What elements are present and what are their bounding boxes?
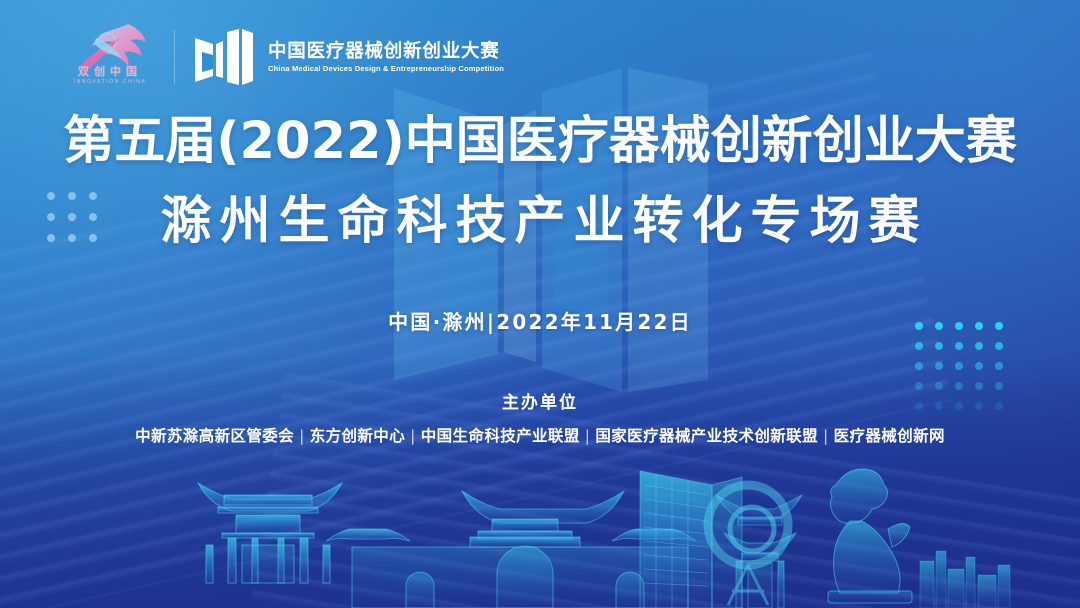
host-separator: | — [580, 427, 596, 445]
city-skyline-decoration — [0, 433, 1080, 608]
host-organization: 中国生命科技产业联盟 — [421, 427, 580, 445]
host-separator: | — [818, 427, 834, 445]
phoenix-bird-icon — [70, 22, 150, 70]
host-organization: 医疗器械创新网 — [834, 427, 945, 445]
logo-shuangchuang-en: INNOVATION CHINA — [64, 79, 156, 85]
open-door-mark-icon — [193, 28, 255, 86]
host-separator: | — [294, 427, 310, 445]
logo-competition: 中国医疗器械创新创业大赛 China Medical Devices Desig… — [193, 28, 500, 86]
logo-divider — [174, 30, 175, 84]
page-title: 第五届(2022)中国医疗器械创新创业大赛 滁州生命科技产业转化专场赛 — [0, 112, 1080, 252]
host-section-label: 主办单位 — [0, 388, 1080, 413]
poster-canvas: 双创中国 INNOVATION CHINA 中国医疗器械创新创业大赛 China… — [0, 0, 1080, 608]
host-organization: 中新苏滁高新区管委会 — [135, 427, 294, 445]
host-organization: 东方创新中心 — [310, 427, 405, 445]
host-separator: | — [405, 427, 421, 445]
logo-competition-cn: 中国医疗器械创新创业大赛 — [268, 42, 500, 62]
logo-shuangchuang-cn: 双创中国 — [64, 66, 156, 78]
event-date-location: 中国·滁州|2022年11月22日 — [0, 306, 1080, 335]
header-logo-group: 双创中国 INNOVATION CHINA 中国医疗器械创新创业大赛 China… — [62, 22, 500, 92]
merlion-statue — [828, 469, 912, 603]
logo-competition-en: China Medical Devices Design & Entrepren… — [268, 64, 504, 73]
title-line-1: 第五届(2022)中国医疗器械创新创业大赛 — [0, 112, 1080, 172]
host-organizations-list: 中新苏滁高新区管委会|东方创新中心|中国生命科技产业联盟|国家医疗器械产业技术创… — [0, 424, 1080, 446]
small-buildings — [920, 551, 1010, 608]
logo-shuangchuang-china: 双创中国 INNOVATION CHINA — [62, 22, 158, 92]
chinese-pailou-gate — [198, 483, 342, 583]
title-line-2: 滁州生命科技产业转化专场赛 — [0, 192, 1080, 252]
host-organization: 国家医疗器械产业技术创新联盟 — [595, 427, 818, 445]
